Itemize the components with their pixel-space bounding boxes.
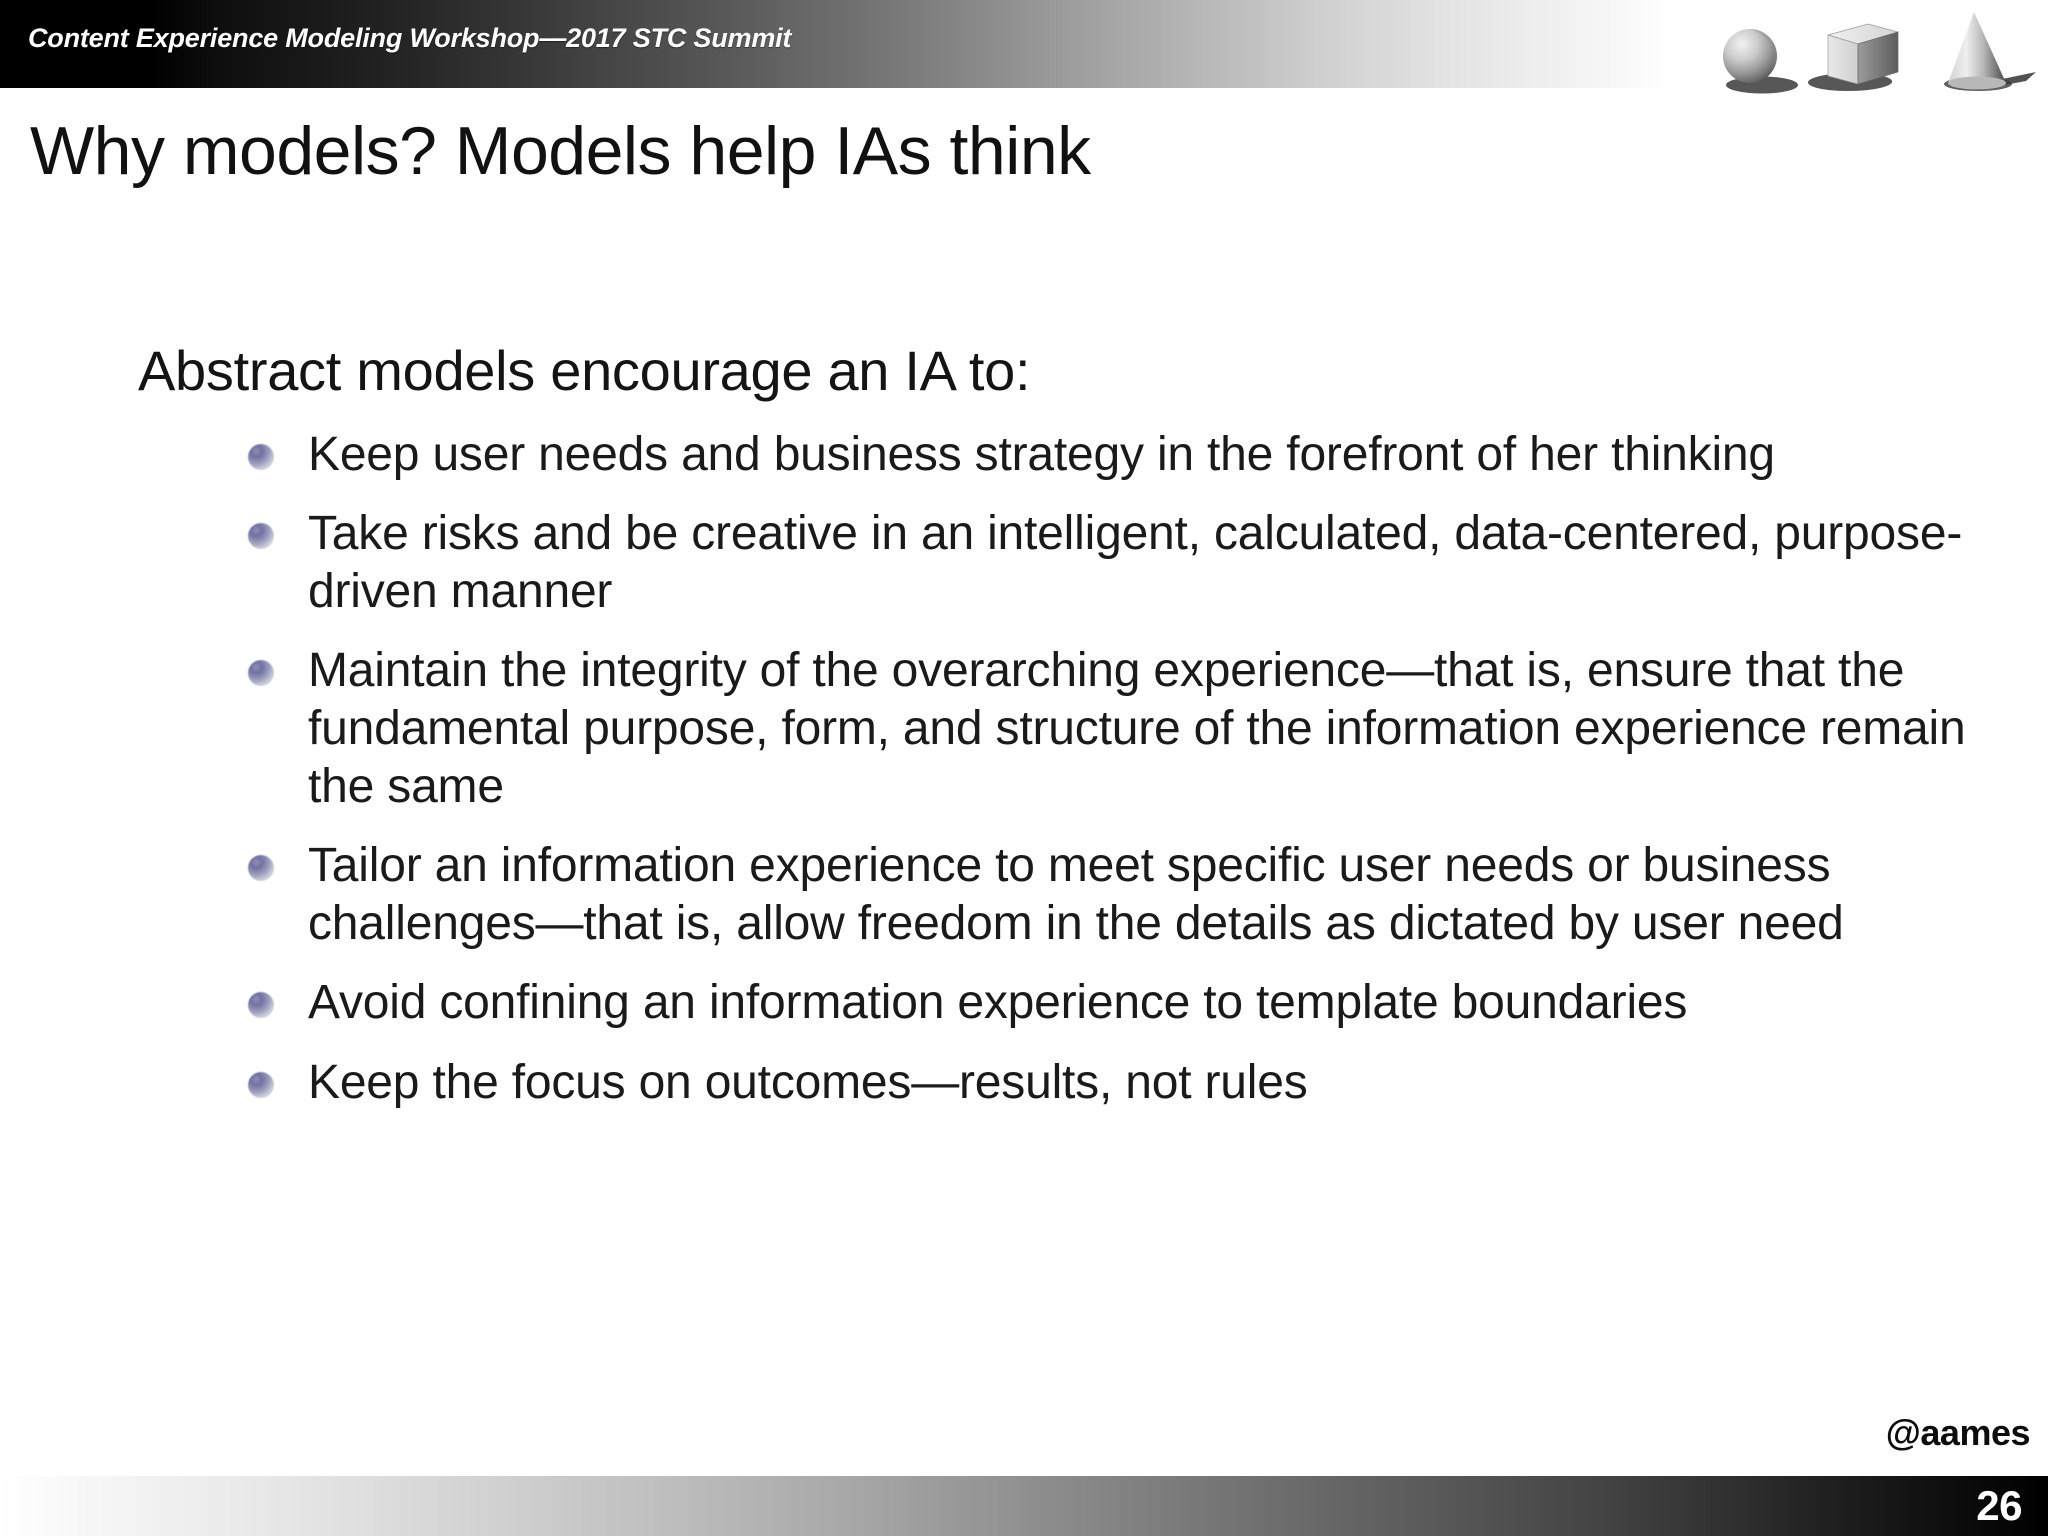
list-item: Tailor an information experience to meet… <box>248 837 2048 952</box>
list-item: Take risks and be creative in an intelli… <box>248 505 2048 620</box>
sphere-bullet-icon <box>248 444 274 470</box>
header-title: Content Experience Modeling Workshop—201… <box>28 23 791 54</box>
social-handle: @aames <box>1886 1412 2030 1454</box>
sphere-bullet-icon <box>248 523 274 549</box>
list-item: Keep user needs and business strategy in… <box>248 426 2048 484</box>
slide-canvas: Content Experience Modeling Workshop—201… <box>0 0 2048 1536</box>
sphere-bullet-icon <box>248 855 274 881</box>
list-item-label: Avoid confining an information experienc… <box>308 974 1687 1032</box>
list-item: Avoid confining an information experienc… <box>248 974 2048 1032</box>
sphere-bullet-icon <box>248 992 274 1018</box>
list-item: Keep the focus on outcomes—results, not … <box>248 1054 2048 1112</box>
footer-bar <box>0 1476 2048 1536</box>
slide-body: Abstract models encourage an IA to: Keep… <box>0 340 2048 1134</box>
sphere-icon <box>1723 29 1798 94</box>
list-item-label: Keep user needs and business strategy in… <box>308 426 1775 484</box>
bullet-list: Keep user needs and business strategy in… <box>0 426 2048 1112</box>
sphere-bullet-icon <box>248 660 274 686</box>
cube-icon <box>1806 24 1898 91</box>
list-item-label: Keep the focus on outcomes—results, not … <box>308 1054 1308 1112</box>
sphere-bullet-icon <box>248 1072 274 1098</box>
page-number: 26 <box>1976 1482 2022 1530</box>
shapes-graphic <box>1710 2 2040 98</box>
page-title: Why models? Models help IAs think <box>30 113 1730 189</box>
list-item-label: Maintain the integrity of the overarchin… <box>308 642 1968 815</box>
list-item: Maintain the integrity of the overarchin… <box>248 642 2048 815</box>
lead-in-text: Abstract models encourage an IA to: <box>138 340 2048 402</box>
list-item-label: Take risks and be creative in an intelli… <box>308 505 1968 620</box>
list-item-label: Tailor an information experience to meet… <box>308 837 1968 952</box>
cone-icon <box>1944 12 2036 91</box>
